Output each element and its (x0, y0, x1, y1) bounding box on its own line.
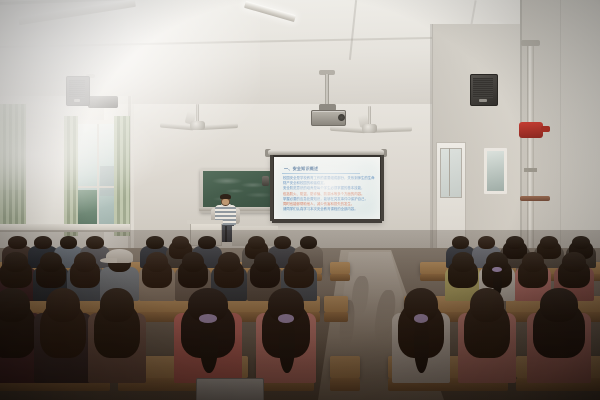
classroom-photo: 一、安全知识概述 校园安全是学校教育工作的重要组成部分，关系到师生的生命财产安全… (0, 0, 600, 400)
desk-front-panel (324, 312, 348, 322)
student-head (8, 236, 27, 249)
hair-scrunchie-icon (278, 314, 294, 323)
student-head (506, 236, 524, 249)
student-head (146, 236, 164, 249)
student-head (0, 288, 30, 322)
student-head (248, 236, 265, 249)
student-ponytail (200, 316, 218, 373)
student-head (300, 236, 317, 249)
student-head (288, 252, 310, 272)
wooden-lecture-desk (330, 262, 350, 274)
student-head (60, 236, 77, 249)
student-head (522, 252, 544, 272)
student-head (4, 252, 28, 272)
desk-front-panel (330, 274, 350, 281)
student-ponytail (414, 316, 429, 373)
cap-brim-icon (100, 258, 117, 263)
student-head (218, 252, 240, 272)
student-head (540, 288, 578, 322)
student-head (452, 236, 469, 249)
student-head (40, 252, 62, 272)
student-head (182, 252, 204, 272)
student-head (74, 252, 96, 272)
student-head (46, 288, 80, 322)
student-head (100, 288, 134, 322)
wooden-lecture-desk (330, 356, 360, 378)
student-ponytail (279, 316, 295, 373)
desk-front-panel (330, 378, 360, 391)
student-head (86, 236, 104, 249)
student-head (198, 236, 216, 249)
student-head (478, 236, 495, 249)
student-head (540, 236, 558, 249)
laptop-screen (196, 378, 264, 400)
student-head (572, 236, 590, 249)
student-head (146, 252, 168, 272)
student-head (172, 236, 189, 249)
student-head (470, 288, 504, 322)
student-head (34, 236, 52, 249)
student-head (452, 252, 474, 272)
hair-scrunchie-icon (199, 314, 217, 323)
student-head (274, 236, 291, 249)
audience (0, 0, 600, 400)
student-head (254, 252, 276, 272)
hair-scrunchie-icon (414, 314, 429, 323)
wooden-lecture-desk (324, 296, 348, 312)
student-head (562, 252, 586, 272)
